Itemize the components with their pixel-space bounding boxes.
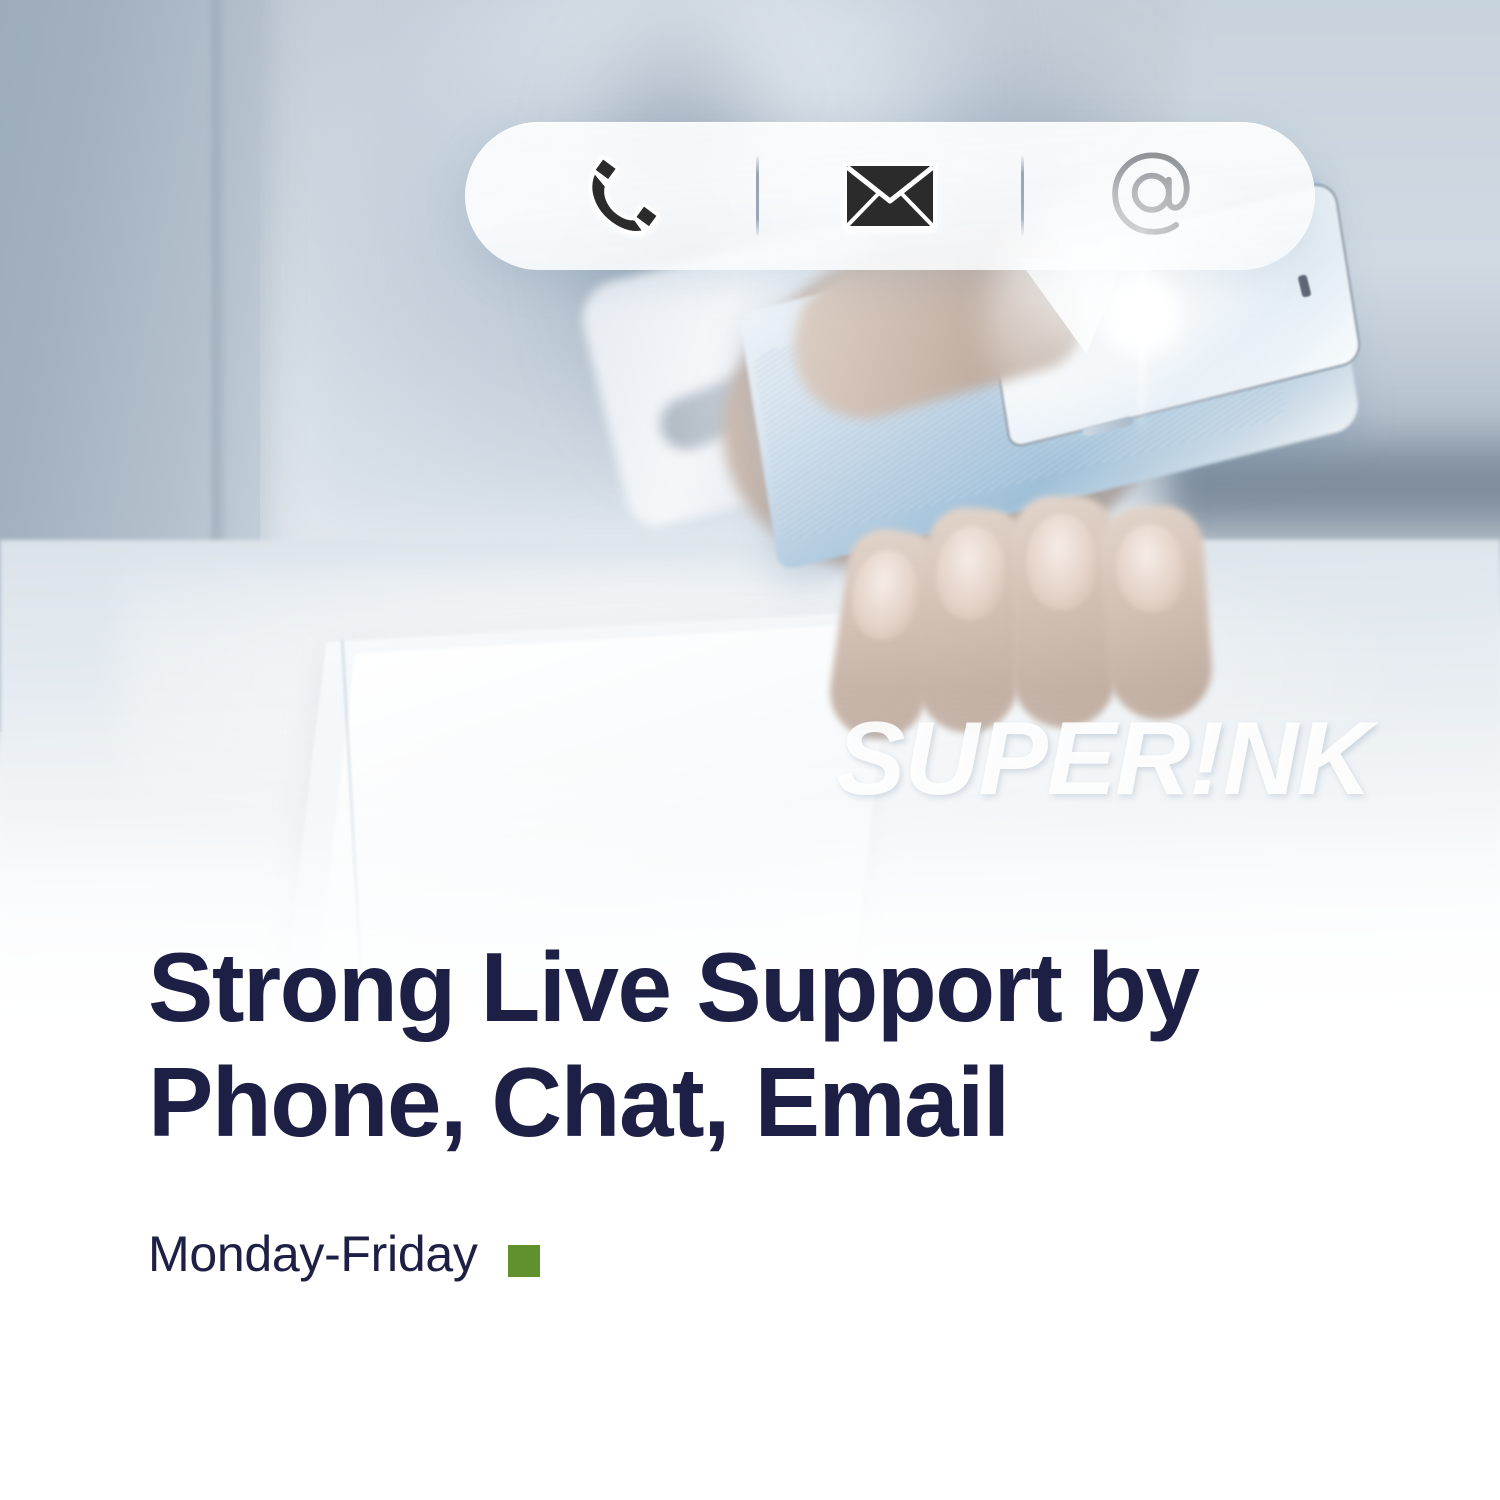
contact-item-phone[interactable] [535, 141, 715, 251]
envelope-icon [840, 158, 940, 234]
contact-methods-bar [465, 122, 1315, 270]
text-content: Strong Live Support by Phone, Chat, Emai… [148, 930, 1348, 1283]
at-sign-icon [1103, 144, 1207, 248]
speech-bubble-tail [1017, 258, 1140, 354]
subtitle-row: Monday-Friday [148, 1225, 1348, 1283]
bar-divider-1 [756, 156, 759, 236]
bar-divider-2 [1021, 156, 1024, 236]
fingernail [1026, 514, 1098, 610]
contact-item-email[interactable] [800, 141, 980, 251]
hand-holding-phone [600, 230, 1400, 750]
page-title: Strong Live Support by Phone, Chat, Emai… [148, 930, 1288, 1159]
phone-handset-icon [577, 148, 673, 244]
green-accent-square [508, 1245, 540, 1277]
support-banner: SUPER!NK [0, 0, 1500, 1500]
contact-item-online[interactable] [1065, 141, 1245, 251]
availability-text: Monday-Friday [148, 1225, 478, 1283]
